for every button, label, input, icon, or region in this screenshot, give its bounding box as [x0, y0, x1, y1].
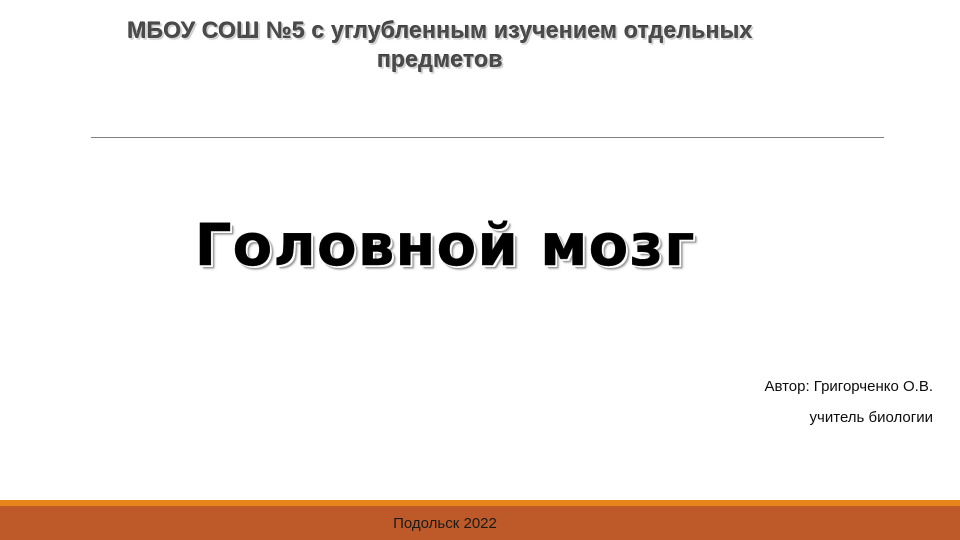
footer-city-year: Подольск 2022	[0, 514, 890, 533]
horizontal-divider-line	[91, 137, 884, 138]
author-name-line: Автор: Григорченко О.В.	[764, 371, 933, 402]
school-name-header: МБОУ СОШ №5 с углубленным изучением отде…	[70, 16, 810, 74]
title-container: Головной мозг	[0, 214, 890, 276]
author-role-line: учитель биологии	[764, 402, 933, 433]
presentation-slide: МБОУ СОШ №5 с углубленным изучением отде…	[0, 0, 960, 540]
slide-title: Головной мозг	[195, 214, 696, 276]
author-block: Автор: Григорченко О.В. учитель биологии	[764, 371, 933, 433]
